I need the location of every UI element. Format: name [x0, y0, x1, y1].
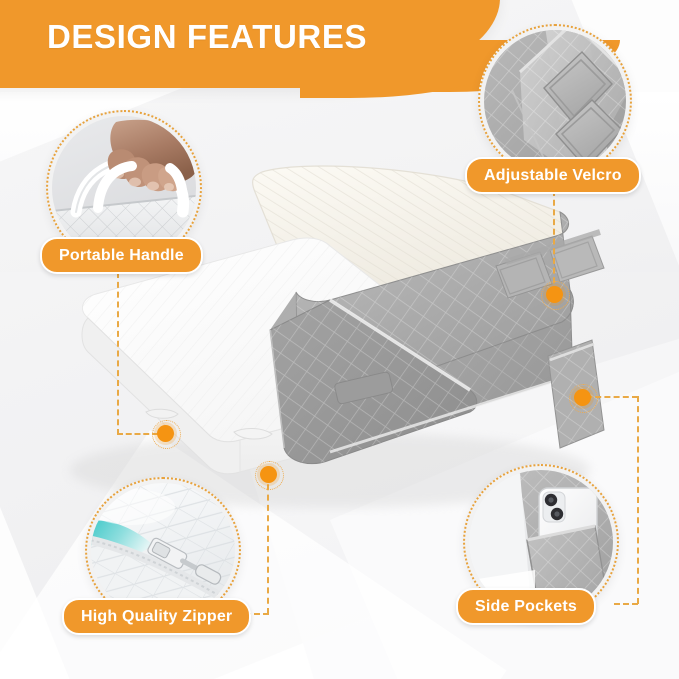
connector-side-pockets-horizontal-bottom — [614, 603, 638, 605]
connector-adjustable-velcro-vertical — [553, 190, 555, 293]
label-high-quality-zipper[interactable]: High Quality Zipper — [62, 598, 251, 635]
inset-adjustable-velcro[interactable] — [478, 24, 632, 178]
page-title: DESIGN FEATURES — [47, 18, 367, 56]
label-portable-handle-text: Portable Handle — [59, 247, 184, 265]
infographic-canvas: DESIGN FEATURES — [0, 0, 679, 679]
adjustable-velcro-photo-art — [484, 30, 626, 172]
hotspot-zipper[interactable] — [260, 466, 277, 483]
connector-zipper-vertical — [267, 474, 269, 614]
label-side-pockets-text: Side Pockets — [475, 598, 577, 616]
connector-portable-handle-vertical — [117, 272, 119, 435]
inset-adjustable-velcro-photo — [484, 30, 626, 172]
hotspot-side-pockets[interactable] — [574, 389, 591, 406]
label-high-quality-zipper-text: High Quality Zipper — [81, 608, 232, 626]
connector-side-pockets-vertical — [637, 396, 639, 604]
label-adjustable-velcro-text: Adjustable Velcro — [484, 167, 622, 185]
label-adjustable-velcro[interactable]: Adjustable Velcro — [465, 157, 641, 194]
hotspot-adjustable-velcro[interactable] — [546, 286, 563, 303]
hotspot-portable-handle[interactable] — [157, 425, 174, 442]
label-portable-handle[interactable]: Portable Handle — [40, 237, 203, 274]
label-side-pockets[interactable]: Side Pockets — [456, 588, 596, 625]
